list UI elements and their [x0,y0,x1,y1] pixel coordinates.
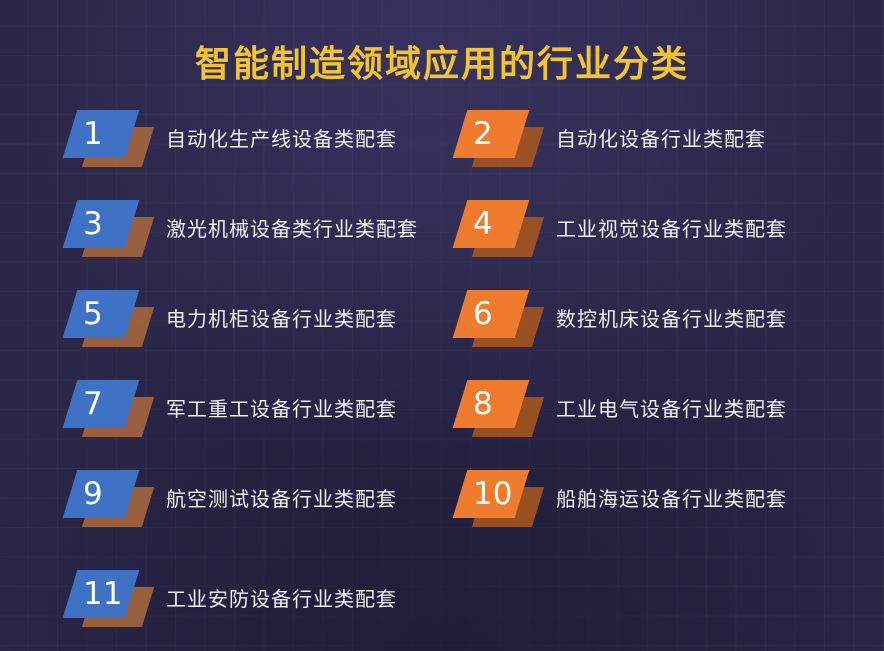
item-number: 10 [460,470,522,518]
item-number-badge: 4 [452,198,544,260]
item-number-badge: 8 [452,378,544,440]
list-item[interactable]: 10船舶海运设备行业类配套 [452,468,787,530]
list-item[interactable]: 8工业电气设备行业类配套 [452,378,787,440]
list-item[interactable]: 4工业视觉设备行业类配套 [452,198,787,260]
item-number-badge: 2 [452,108,544,170]
list-item[interactable]: 1自动化生产线设备类配套 [62,108,397,170]
item-number: 4 [460,200,522,248]
item-label: 数控机床设备行业类配套 [556,305,787,333]
list-item[interactable]: 7军工重工设备行业类配套 [62,378,397,440]
item-label: 自动化设备行业类配套 [556,125,766,153]
item-number: 2 [460,110,522,158]
item-label: 激光机械设备类行业类配套 [166,215,418,243]
list-item[interactable]: 11工业安防设备行业类配套 [62,568,397,630]
item-label: 电力机柜设备行业类配套 [166,305,397,333]
item-number: 7 [70,380,132,428]
item-number-badge: 9 [62,468,154,530]
item-label: 工业电气设备行业类配套 [556,395,787,423]
item-label: 航空测试设备行业类配套 [166,485,397,513]
item-number-badge: 10 [452,468,544,530]
item-number-badge: 6 [452,288,544,350]
page-title: 智能制造领域应用的行业分类 [0,40,884,90]
infographic-canvas: 智能制造领域应用的行业分类 1自动化生产线设备类配套2自动化设备行业类配套3激光… [0,0,884,651]
item-label: 工业视觉设备行业类配套 [556,215,787,243]
item-label: 工业安防设备行业类配套 [166,585,397,613]
item-number-badge: 1 [62,108,154,170]
item-number: 6 [460,290,522,338]
item-number-badge: 5 [62,288,154,350]
item-number: 5 [70,290,132,338]
list-item[interactable]: 5电力机柜设备行业类配套 [62,288,397,350]
item-number: 9 [70,470,132,518]
list-item[interactable]: 6数控机床设备行业类配套 [452,288,787,350]
industry-category-list: 1自动化生产线设备类配套2自动化设备行业类配套3激光机械设备类行业类配套4工业视… [0,100,884,645]
list-item[interactable]: 3激光机械设备类行业类配套 [62,198,418,260]
item-number-badge: 11 [62,568,154,630]
item-number: 11 [70,570,132,618]
item-number-badge: 7 [62,378,154,440]
item-label: 自动化生产线设备类配套 [166,125,397,153]
list-item[interactable]: 9航空测试设备行业类配套 [62,468,397,530]
item-label: 船舶海运设备行业类配套 [556,485,787,513]
item-number: 8 [460,380,522,428]
item-number: 3 [70,200,132,248]
item-number-badge: 3 [62,198,154,260]
item-number: 1 [70,110,132,158]
list-item[interactable]: 2自动化设备行业类配套 [452,108,766,170]
item-label: 军工重工设备行业类配套 [166,395,397,423]
